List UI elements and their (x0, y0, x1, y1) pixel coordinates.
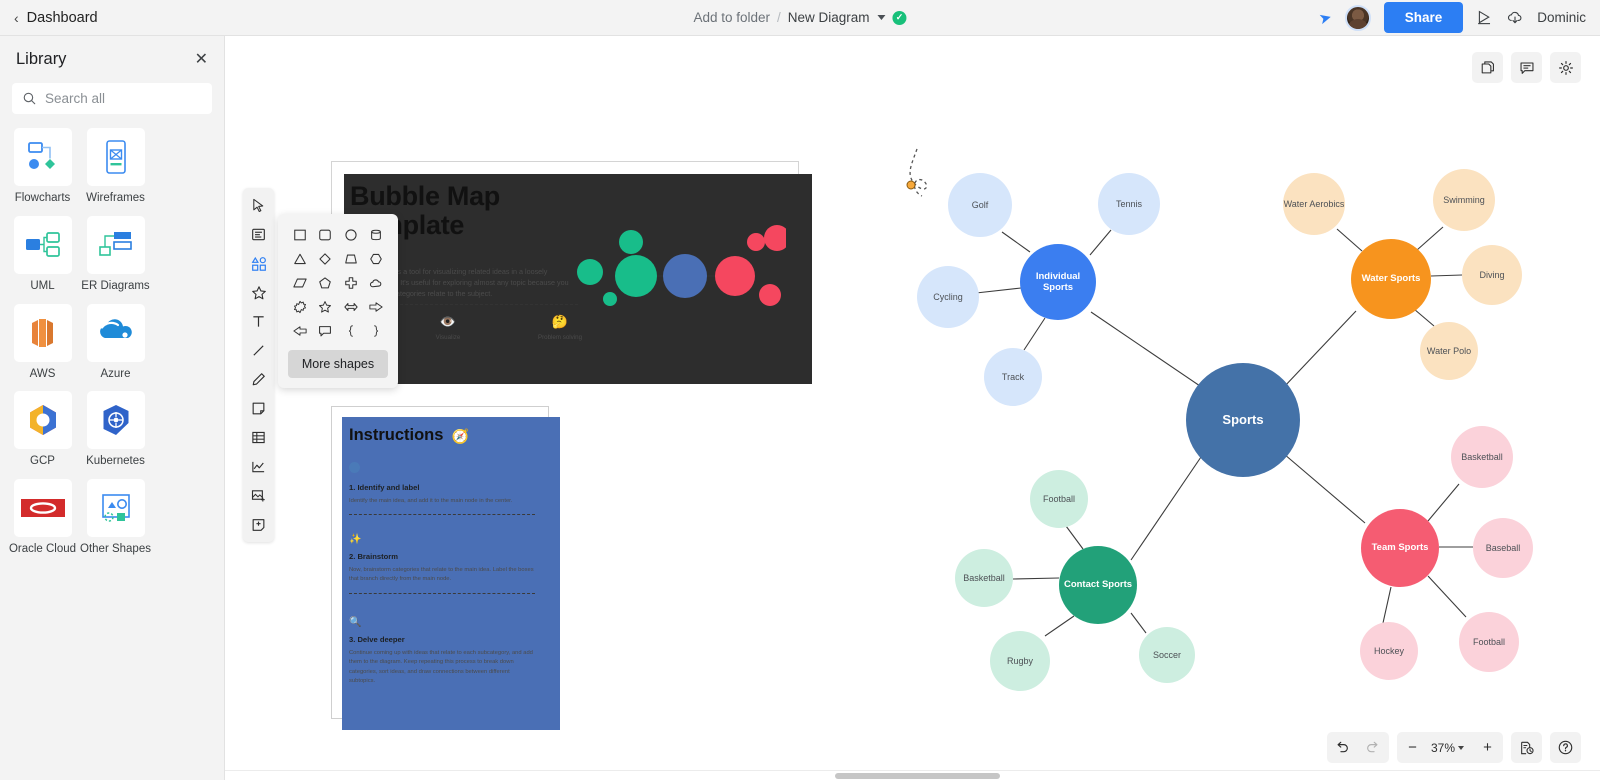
instruction-heading: 3. Delve deeper (349, 635, 535, 644)
search-field-wrapper[interactable] (12, 83, 212, 114)
breadcrumb-separator: / (777, 10, 781, 25)
bubble-node-label: Football (1043, 494, 1075, 505)
scrollbar-thumb[interactable] (835, 773, 1000, 779)
diagram-app: ‹ Dashboard Add to folder / New Diagram … (0, 0, 1600, 780)
library-item-flowcharts[interactable]: Flowcharts (7, 128, 78, 206)
library-item-azure[interactable]: Azure (80, 304, 151, 382)
library-header: Library ✕ (0, 36, 224, 77)
settings-button[interactable] (1550, 52, 1581, 83)
library-item-uml[interactable]: UML (7, 216, 78, 294)
library-grid: Flowcharts Wireframes UML (0, 114, 224, 567)
instruction-divider (349, 593, 535, 594)
gcp-icon (14, 391, 72, 449)
shape-star[interactable] (314, 298, 338, 315)
magnifier-icon: 🔍 (349, 617, 361, 628)
instruction-divider (349, 514, 535, 515)
shapes-grid (288, 226, 388, 339)
bubble-node-basketball-contact[interactable]: Basketball (955, 549, 1013, 607)
bubble-node-soccer[interactable]: Soccer (1139, 627, 1195, 683)
kubernetes-icon (87, 391, 145, 449)
bubble-node-swimming[interactable]: Swimming (1433, 169, 1495, 231)
shape-speech-bubble[interactable] (314, 322, 338, 339)
comments-button[interactable] (1511, 52, 1542, 83)
bubble-node-label: Individual Sports (1020, 271, 1096, 293)
template-tag: 👁️ Visualize (418, 314, 478, 341)
shape-trapezoid[interactable] (339, 250, 363, 267)
bubble-node-label: Tennis (1116, 199, 1142, 210)
bubble-node-label: Contact Sports (1064, 579, 1132, 590)
eye-icon: 👁️ (418, 314, 478, 330)
user-avatar[interactable] (1345, 5, 1371, 31)
search-icon (22, 91, 37, 106)
saved-check-icon: ✓ (893, 11, 907, 25)
bubble-node-label: Cycling (933, 292, 963, 303)
pages-icon (1480, 60, 1496, 76)
cloud-download-icon[interactable] (1506, 9, 1524, 26)
bubble-node-individual-sports[interactable]: Individual Sports (1020, 244, 1096, 320)
er-diagram-icon (87, 216, 145, 274)
instruction-text: Continue coming up with ideas that relat… (349, 649, 535, 686)
library-item-label: Wireframes (80, 192, 151, 206)
instruction-heading: 2. Brainstorm (349, 552, 535, 561)
pen-tool[interactable] (245, 366, 272, 393)
shape-hexagon[interactable] (365, 250, 389, 267)
zoom-level-label[interactable]: 37% (1428, 741, 1458, 755)
bubble-node-track[interactable]: Track (984, 348, 1042, 406)
bubble-node-label: Baseball (1486, 543, 1521, 554)
zoom-in-button[interactable]: + (1472, 732, 1503, 763)
shape-cylinder[interactable] (365, 226, 389, 243)
bubble-node-water-sports[interactable]: Water Sports (1351, 239, 1431, 319)
bubble-node-contact-sports[interactable]: Contact Sports (1059, 546, 1137, 624)
shape-right-brace[interactable] (365, 322, 389, 339)
bubble-node-label: Sports (1222, 412, 1263, 427)
help-icon (1557, 739, 1574, 756)
tool-rail (243, 188, 274, 542)
library-item-label: Other Shapes (80, 543, 151, 557)
textbox-tool[interactable] (245, 221, 272, 248)
library-item-label: ER Diagrams (80, 280, 151, 294)
shape-square[interactable] (288, 226, 312, 243)
version-history-button[interactable] (1511, 732, 1542, 763)
library-item-label: GCP (7, 455, 78, 469)
shape-left-arrow[interactable] (288, 322, 312, 339)
shape-triangle[interactable] (288, 250, 312, 267)
bubble-node-baseball[interactable]: Baseball (1473, 518, 1533, 578)
shape-left-brace[interactable] (339, 322, 363, 339)
bubble-node-golf[interactable]: Golf (948, 173, 1012, 237)
instruction-step-1: 1. Identify and label Identify the main … (349, 460, 535, 515)
bubble-node-tennis[interactable]: Tennis (1098, 173, 1160, 235)
instruction-text: Identify the main idea, and add it to th… (349, 497, 535, 506)
chevron-left-icon: ‹ (14, 11, 19, 25)
library-item-label: Kubernetes (80, 455, 151, 469)
wireframe-icon (87, 128, 145, 186)
template-tag-label: Problem solving (530, 334, 590, 341)
bubble-node-label: Team Sports (1372, 542, 1429, 553)
bubble-node-sports[interactable]: Sports (1186, 363, 1300, 477)
bubble-node-label: Water Aerobics (1284, 199, 1345, 210)
image-tool[interactable] (245, 482, 272, 509)
shape-burst[interactable] (288, 298, 312, 315)
chevron-down-icon[interactable] (878, 15, 886, 20)
chart-tool[interactable] (245, 453, 272, 480)
bubble-node-label: Basketball (963, 573, 1005, 584)
canvas-area[interactable]: Bubble Map Template A bubble map is a to… (225, 36, 1600, 780)
library-item-oracle-cloud[interactable]: Oracle Cloud (7, 479, 78, 557)
instruction-step-2: ✨ 2. Brainstorm Now, brainstorm categori… (349, 529, 535, 594)
shape-diamond[interactable] (314, 250, 338, 267)
oracle-cloud-icon (14, 479, 72, 537)
bubble-node-label: Rugby (1007, 656, 1033, 667)
more-shapes-button[interactable]: More shapes (288, 350, 388, 378)
canvas-top-right-controls (1472, 52, 1581, 83)
blue-dot-icon (349, 462, 360, 473)
compass-icon: 🧭 (451, 429, 468, 443)
instructions-card[interactable]: Instructions 🧭 1. Identify and label Ide… (331, 406, 549, 719)
bubble-node-football-contact[interactable]: Football (1030, 470, 1088, 528)
shape-cross[interactable] (339, 274, 363, 291)
dashboard-label: Dashboard (27, 10, 98, 26)
add-more-tool[interactable] (245, 511, 272, 538)
bubble-node-rugby[interactable]: Rugby (990, 631, 1050, 691)
library-item-label: UML (7, 280, 78, 294)
library-item-label: Azure (80, 368, 151, 382)
sticky-note-tool[interactable] (245, 395, 272, 422)
document-title[interactable]: New Diagram (788, 10, 870, 25)
redo-button[interactable] (1358, 732, 1389, 763)
instruction-text: Now, brainstorm categories that relate t… (349, 566, 535, 585)
shape-cloud[interactable] (365, 274, 389, 291)
redo-icon (1365, 740, 1381, 756)
bubble-node-label: Swimming (1443, 195, 1485, 206)
library-item-label: AWS (7, 368, 78, 382)
bubble-node-water-polo[interactable]: Water Polo (1420, 322, 1478, 380)
present-icon[interactable] (1476, 9, 1493, 26)
bubble-node-label: Diving (1479, 270, 1504, 281)
table-tool[interactable] (245, 424, 272, 451)
gear-icon (1558, 60, 1574, 76)
history-icon (1519, 740, 1535, 756)
zoom-toolbar: − 37% + (1327, 732, 1581, 763)
template-card-tags: 👁️ Visualize 🤔 Problem solving (418, 314, 590, 341)
shapes-popup[interactable]: More shapes (278, 214, 398, 388)
library-item-gcp[interactable]: GCP (7, 391, 78, 469)
bubble-node-diving[interactable]: Diving (1462, 245, 1522, 305)
undo-redo-group (1327, 732, 1389, 763)
library-item-kubernetes[interactable]: Kubernetes (80, 391, 151, 469)
bubble-node-label: Football (1473, 637, 1505, 648)
azure-icon (87, 304, 145, 362)
horizontal-scrollbar[interactable] (225, 770, 1600, 780)
instruction-step-3: 🔍 3. Delve deeper Continue coming up wit… (349, 612, 535, 686)
bubble-node-water-aerobics[interactable]: Water Aerobics (1283, 173, 1345, 235)
close-icon[interactable]: ✕ (195, 52, 208, 68)
shape-pentagon[interactable] (314, 274, 338, 291)
other-shapes-icon (87, 479, 145, 537)
bubble-node-label: Water Sports (1362, 273, 1421, 284)
cursor-pointer-icon[interactable]: ➤ (1317, 7, 1334, 28)
bubble-map-template-card[interactable]: Bubble Map Template A bubble map is a to… (331, 161, 799, 371)
bubble-node-label: Golf (972, 200, 989, 211)
template-tag-label: Visualize (418, 334, 478, 341)
bubble-node-label: Basketball (1461, 452, 1503, 463)
library-item-er-diagrams[interactable]: ER Diagrams (80, 216, 151, 294)
bubble-node-label: Hockey (1374, 646, 1404, 657)
bubble-node-football-team[interactable]: Football (1459, 612, 1519, 672)
library-item-label: Flowcharts (7, 192, 78, 206)
chevron-down-icon[interactable] (1458, 746, 1464, 750)
bubble-node-basketball-team[interactable]: Basketball (1451, 426, 1513, 488)
undo-icon (1334, 740, 1350, 756)
select-tool[interactable] (245, 192, 272, 219)
instruction-heading: 1. Identify and label (349, 483, 535, 492)
top-bar: ‹ Dashboard Add to folder / New Diagram … (0, 0, 1600, 36)
undo-button[interactable] (1327, 732, 1358, 763)
top-right-actions: ➤ Share Dominic (1319, 2, 1586, 33)
aws-icon (14, 304, 72, 362)
library-item-label: Oracle Cloud (7, 543, 78, 557)
search-input[interactable] (45, 91, 202, 106)
library-item-wireframes[interactable]: Wireframes (80, 128, 151, 206)
history-group (1511, 732, 1542, 763)
zoom-controls-group: − 37% + (1397, 732, 1503, 763)
text-tool[interactable] (245, 308, 272, 335)
shape-parallelogram[interactable] (288, 274, 312, 291)
bubble-node-hockey[interactable]: Hockey (1360, 622, 1418, 680)
library-title: Library (16, 50, 66, 69)
bubble-node-label: Soccer (1153, 650, 1181, 661)
flowchart-icon (14, 128, 72, 186)
library-item-aws[interactable]: AWS (7, 304, 78, 382)
shape-double-arrow[interactable] (339, 298, 363, 315)
bubble-node-label: Water Polo (1427, 346, 1471, 357)
share-button[interactable]: Share (1384, 2, 1464, 33)
instructions-title-text: Instructions (349, 426, 443, 445)
bubble-node-team-sports[interactable]: Team Sports (1361, 509, 1439, 587)
shape-circle[interactable] (339, 226, 363, 243)
bubble-node-label: Track (1002, 372, 1024, 383)
line-tool[interactable] (245, 337, 272, 364)
sparkles-icon: ✨ (349, 534, 361, 545)
shape-rounded-square[interactable] (314, 226, 338, 243)
add-to-folder-link[interactable]: Add to folder (693, 10, 770, 25)
library-panel: Library ✕ Flowcharts Wireframes (0, 36, 225, 780)
zoom-out-button[interactable]: − (1397, 732, 1428, 763)
shapes-tool[interactable] (245, 250, 272, 277)
help-group (1550, 732, 1581, 763)
help-button[interactable] (1550, 732, 1581, 763)
breadcrumb: Add to folder / New Diagram ✓ (693, 10, 906, 25)
pages-button[interactable] (1472, 52, 1503, 83)
library-item-other-shapes[interactable]: Other Shapes (80, 479, 151, 557)
uml-icon (14, 216, 72, 274)
instructions-title: Instructions 🧭 (349, 426, 469, 445)
icons-tool[interactable] (245, 279, 272, 306)
back-to-dashboard-link[interactable]: ‹ Dashboard (14, 10, 98, 26)
username-label[interactable]: Dominic (1537, 10, 1586, 25)
comment-icon (1519, 60, 1535, 76)
bubble-node-cycling[interactable]: Cycling (917, 266, 979, 328)
template-bubble-illustration (574, 214, 786, 334)
shape-right-arrow[interactable] (365, 298, 389, 315)
